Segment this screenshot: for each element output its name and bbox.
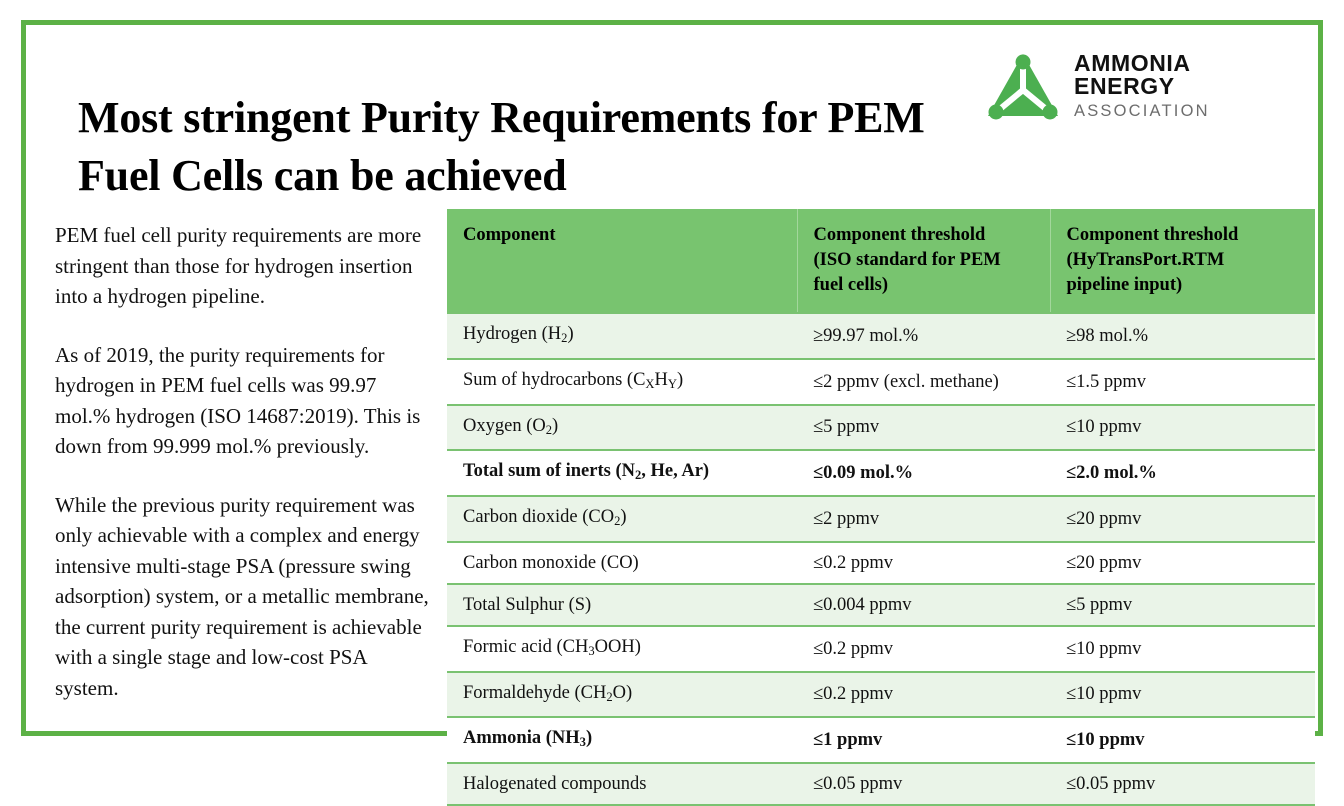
cell-pipeline-threshold: ≥98 mol.% <box>1050 313 1315 359</box>
cell-pipeline-threshold: ≤10 ppmv <box>1050 717 1315 763</box>
cell-iso-threshold: ≤0.004 ppmv <box>797 584 1050 626</box>
table-body: Hydrogen (H2)≥99.97 mol.%≥98 mol.%Sum of… <box>447 313 1315 805</box>
cell-component: Carbon dioxide (CO2) <box>447 496 797 542</box>
cell-iso-threshold: ≤0.2 ppmv <box>797 626 1050 672</box>
cell-component: Formaldehyde (CH2O) <box>447 672 797 718</box>
cell-iso-threshold: ≤5 ppmv <box>797 405 1050 451</box>
logo-wordmark: AMMONIA ENERGY ASSOCIATION <box>1074 52 1284 120</box>
cell-pipeline-threshold: ≤1.5 ppmv <box>1050 359 1315 405</box>
table-row: Ammonia (NH3)≤1 ppmv≤10 ppmv <box>447 717 1315 763</box>
column-header-pipeline-threshold: Component threshold(HyTransPort.RTMpipel… <box>1050 209 1315 313</box>
table-row: Oxygen (O2)≤5 ppmv≤10 ppmv <box>447 405 1315 451</box>
table-row: Halogenated compounds≤0.05 ppmv≤0.05 ppm… <box>447 763 1315 805</box>
cell-component: Ammonia (NH3) <box>447 717 797 763</box>
cell-component: Carbon monoxide (CO) <box>447 542 797 584</box>
cell-component: Hydrogen (H2) <box>447 313 797 359</box>
table-header: Component Component threshold(ISO standa… <box>447 209 1315 313</box>
table-row: Formic acid (CH3OOH)≤0.2 ppmv≤10 ppmv <box>447 626 1315 672</box>
body-paragraph: As of 2019, the purity requirements for … <box>55 340 435 462</box>
cell-component: Oxygen (O2) <box>447 405 797 451</box>
body-text-column: PEM fuel cell purity requirements are mo… <box>55 220 435 703</box>
cell-component: Total sum of inerts (N2, He, Ar) <box>447 450 797 496</box>
cell-iso-threshold: ≤2 ppmv (excl. methane) <box>797 359 1050 405</box>
cell-iso-threshold: ≥99.97 mol.% <box>797 313 1050 359</box>
cell-iso-threshold: ≤0.2 ppmv <box>797 672 1050 718</box>
cell-component: Halogenated compounds <box>447 763 797 805</box>
cell-iso-threshold: ≤0.05 ppmv <box>797 763 1050 805</box>
ammonia-energy-association-logo: AMMONIA ENERGY ASSOCIATION <box>984 38 1284 134</box>
purity-requirements-table-container: Component Component threshold(ISO standa… <box>447 209 1315 722</box>
cell-iso-threshold: ≤1 ppmv <box>797 717 1050 763</box>
body-paragraph: PEM fuel cell purity requirements are mo… <box>55 220 435 312</box>
cell-component: Sum of hydrocarbons (CXHY) <box>447 359 797 405</box>
table-header-row: Component Component threshold(ISO standa… <box>447 209 1315 313</box>
cell-pipeline-threshold: ≤20 ppmv <box>1050 542 1315 584</box>
column-header-component: Component <box>447 209 797 313</box>
page-title: Most stringent Purity Requirements for P… <box>78 89 968 205</box>
table-row: Carbon dioxide (CO2)≤2 ppmv≤20 ppmv <box>447 496 1315 542</box>
table-row: Carbon monoxide (CO)≤0.2 ppmv≤20 ppmv <box>447 542 1315 584</box>
cell-iso-threshold: ≤2 ppmv <box>797 496 1050 542</box>
cell-component: Total Sulphur (S) <box>447 584 797 626</box>
table-row: Total sum of inerts (N2, He, Ar)≤0.09 mo… <box>447 450 1315 496</box>
cell-pipeline-threshold: ≤10 ppmv <box>1050 672 1315 718</box>
cell-iso-threshold: ≤0.2 ppmv <box>797 542 1050 584</box>
logo-line-2: ASSOCIATION <box>1074 103 1284 120</box>
table-row: Hydrogen (H2)≥99.97 mol.%≥98 mol.% <box>447 313 1315 359</box>
cell-iso-threshold: ≤0.09 mol.% <box>797 450 1050 496</box>
table-row: Formaldehyde (CH2O)≤0.2 ppmv≤10 ppmv <box>447 672 1315 718</box>
cell-pipeline-threshold: ≤10 ppmv <box>1050 626 1315 672</box>
column-header-iso-threshold: Component threshold(ISO standard for PEM… <box>797 209 1050 313</box>
purity-requirements-table: Component Component threshold(ISO standa… <box>447 209 1315 806</box>
cell-component: Formic acid (CH3OOH) <box>447 626 797 672</box>
cell-pipeline-threshold: ≤5 ppmv <box>1050 584 1315 626</box>
cell-pipeline-threshold: ≤10 ppmv <box>1050 405 1315 451</box>
cell-pipeline-threshold: ≤2.0 mol.% <box>1050 450 1315 496</box>
cell-pipeline-threshold: ≤0.05 ppmv <box>1050 763 1315 805</box>
body-paragraph: While the previous purity requirement wa… <box>55 490 435 704</box>
logo-line-1: AMMONIA ENERGY <box>1074 52 1284 98</box>
cell-pipeline-threshold: ≤20 ppmv <box>1050 496 1315 542</box>
ammonia-energy-triangle-logo-icon <box>984 50 1062 122</box>
slide-canvas: Most stringent Purity Requirements for P… <box>0 0 1344 756</box>
table-row: Total Sulphur (S)≤0.004 ppmv≤5 ppmv <box>447 584 1315 626</box>
table-row: Sum of hydrocarbons (CXHY)≤2 ppmv (excl.… <box>447 359 1315 405</box>
